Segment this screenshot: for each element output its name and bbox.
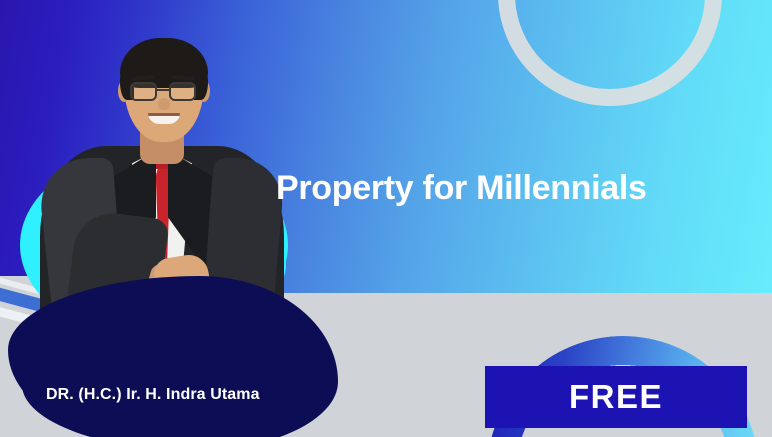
speaker-name-label: DR. (H.C.) Ir. H. Indra Utama (46, 386, 260, 404)
eyeglasses-lens-left (130, 82, 157, 101)
promo-banner: Property for Millennials DR. (H.C.) Ir. … (0, 0, 772, 437)
nose (158, 98, 170, 110)
eyeglasses-bridge (157, 89, 169, 91)
free-badge-label: FREE (569, 378, 663, 416)
page-title: Property for Millennials (276, 170, 756, 207)
hair-side-right (194, 64, 208, 100)
free-badge[interactable]: FREE (485, 366, 747, 428)
eyeglasses-lens-right (169, 82, 196, 101)
